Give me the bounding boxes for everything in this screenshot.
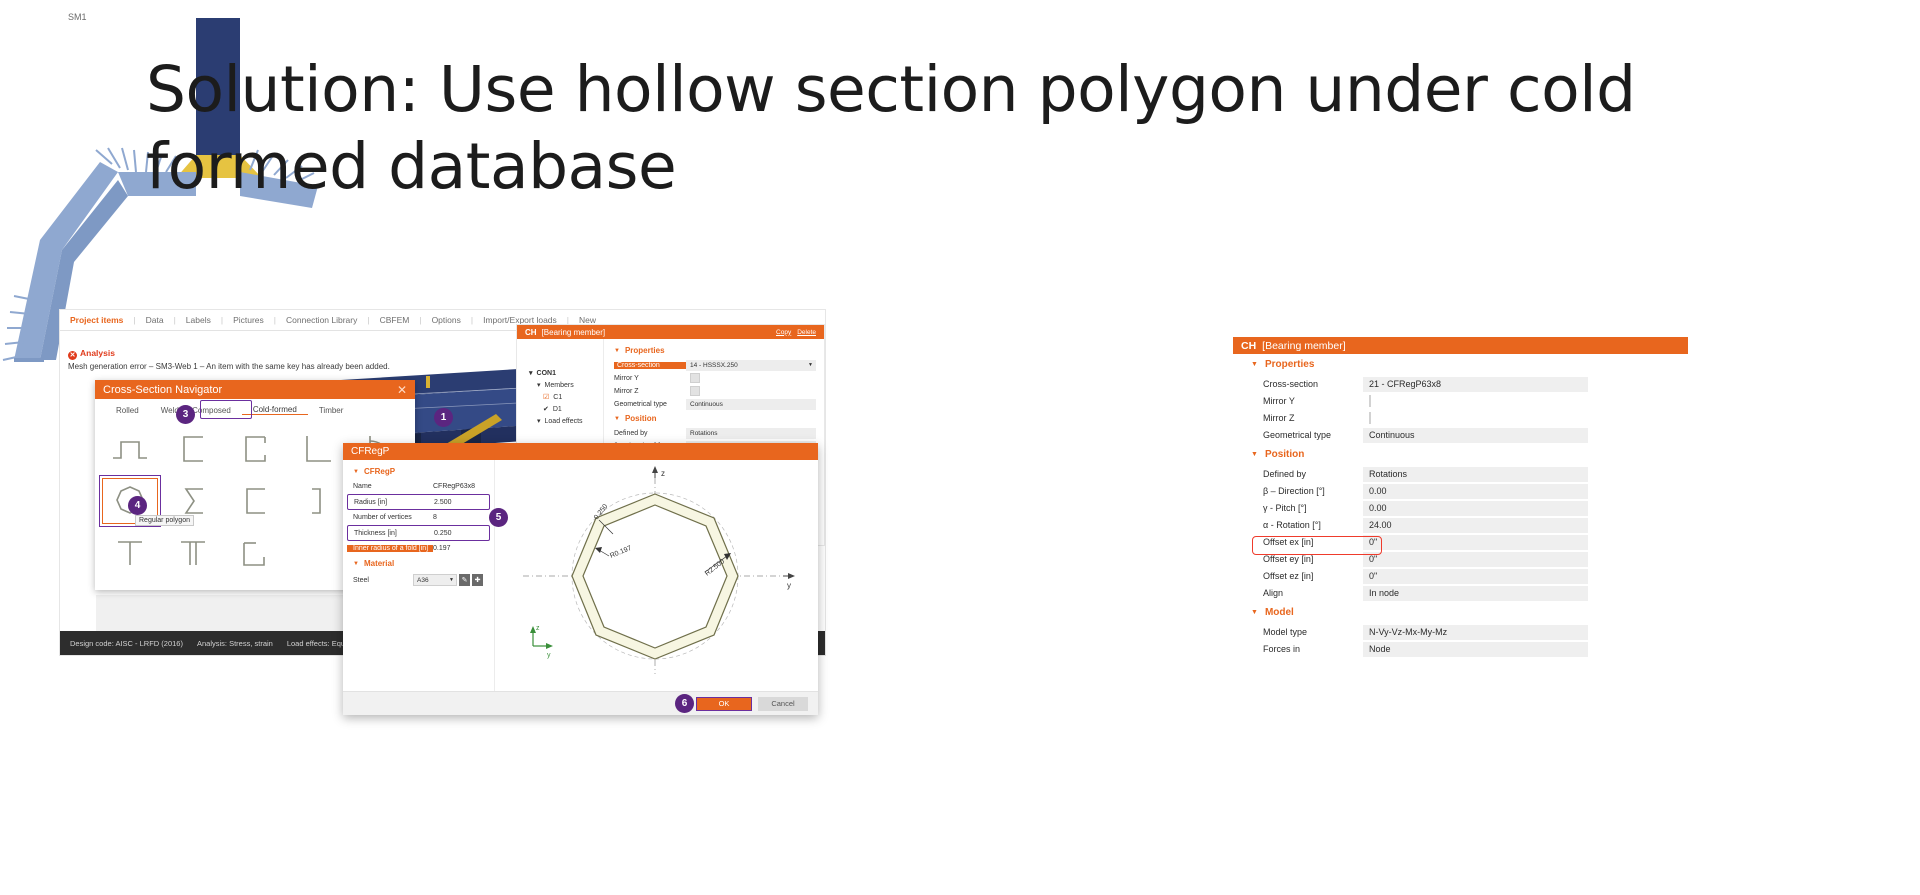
- row-value[interactable]: Continuous: [1363, 428, 1588, 443]
- shape-cell-hook[interactable]: [286, 475, 348, 527]
- shape-cell-angle[interactable]: [286, 423, 348, 475]
- sigma-section-icon: [176, 485, 210, 517]
- shape-cell-tee-flanged[interactable]: [161, 527, 223, 579]
- right-panel-tag: CH: [1241, 340, 1256, 352]
- tee-section-icon: [113, 537, 147, 569]
- row-key: Forces in: [1263, 644, 1363, 654]
- left-panel-title: [Bearing member]: [542, 328, 606, 337]
- row-geometrical-type[interactable]: Geometrical type Continuous: [614, 398, 824, 410]
- select-value: A36: [417, 577, 429, 584]
- cold-formed-tab-highlight: [200, 400, 252, 419]
- row-key: Mirror Y: [1263, 396, 1363, 406]
- row-key: Model type: [1263, 627, 1363, 637]
- caret-icon: ▾: [537, 417, 541, 425]
- row-mirror-y[interactable]: Mirror Y: [614, 372, 824, 384]
- step-badge-1: 1: [434, 408, 453, 427]
- right-section-properties[interactable]: ▼ Properties: [1233, 354, 1688, 375]
- row-cross-section[interactable]: Cross-section 14 - HSSSX.250 ▼: [614, 359, 824, 371]
- cfregp-row-vertices[interactable]: Number of vertices 8: [347, 511, 490, 524]
- section-label: Properties: [1265, 359, 1314, 370]
- row-key: Inner radius of a fold [in]: [347, 545, 433, 552]
- right-row-forces-in[interactable]: Forces in Node: [1263, 641, 1688, 657]
- lipped-channel-icon: [238, 433, 272, 465]
- angle-section-icon: [299, 433, 335, 465]
- caret-icon: ▼: [1251, 609, 1258, 616]
- row-value: [686, 386, 816, 397]
- csn-titlebar: Cross-Section Navigator ✕: [95, 380, 415, 399]
- step-badge-5: 5: [489, 508, 508, 527]
- csn-tab-timber[interactable]: Timber: [308, 406, 355, 415]
- row-value[interactable]: 0.197: [433, 545, 490, 552]
- shape-cell-empty-a: [286, 527, 348, 579]
- right-row-offset-ez[interactable]: Offset ez [in] 0": [1263, 568, 1688, 584]
- row-defined-by[interactable]: Defined by Rotations: [614, 427, 824, 439]
- page-title: Solution: Use hollow section polygon und…: [146, 52, 1786, 206]
- tree-label: Members: [545, 382, 574, 389]
- cfregp-section-header[interactable]: ▼ CFRegP: [343, 464, 494, 479]
- ribbon-tab-pictures[interactable]: Pictures: [223, 315, 274, 325]
- row-key: γ - Pitch [°]: [1263, 503, 1363, 513]
- left-section-properties[interactable]: ▼ Properties: [604, 343, 824, 358]
- row-value[interactable]: CFRegP63x8: [433, 483, 490, 490]
- hat-section-icon: [110, 434, 150, 464]
- row-value[interactable]: Rotations: [686, 428, 816, 439]
- svg-text:y: y: [787, 581, 791, 590]
- step-badge-4: 4: [128, 496, 147, 515]
- z-section-icon: [238, 537, 272, 569]
- ribbon-tab-project-items[interactable]: Project items: [60, 315, 133, 325]
- section-label: Material: [364, 559, 394, 568]
- row-key: Defined by: [1263, 469, 1363, 479]
- row-value[interactable]: 0.250: [434, 530, 489, 537]
- right-row-mirror-y[interactable]: Mirror Y: [1263, 393, 1688, 409]
- status-design-code: Design code: AISC - LRFD (2016): [70, 639, 183, 648]
- left-panel-actions[interactable]: Copy Delete: [776, 329, 816, 336]
- viewport-label: SM1: [68, 12, 87, 22]
- cfregp-row-name[interactable]: Name CFRegP63x8: [347, 480, 490, 493]
- cfregp-section-material[interactable]: ▼ Material: [343, 556, 494, 571]
- ok-button[interactable]: OK: [696, 697, 752, 711]
- left-panel-header: CH [Bearing member] Copy Delete: [517, 325, 824, 339]
- shape-cell-tee[interactable]: [99, 527, 161, 579]
- row-value[interactable]: 0": [1363, 552, 1588, 567]
- cfregp-row-steel[interactable]: Steel A36 ▼ ✎ ✚: [347, 573, 490, 587]
- shape-cell-u[interactable]: [224, 475, 286, 527]
- caret-icon: ▾: [529, 369, 533, 377]
- cfregp-dialog: CFRegP ▼ CFRegP Name CFRegP63x8 Radius […: [343, 443, 818, 715]
- alpha-rotation-highlight: [1252, 536, 1382, 555]
- caret-icon: ▼: [353, 469, 359, 475]
- mirror-y-checkbox[interactable]: [690, 373, 700, 383]
- row-key: Mirror Z: [1263, 413, 1363, 423]
- row-mirror-z[interactable]: Mirror Z: [614, 385, 824, 397]
- row-value[interactable]: N-Vy-Vz-Mx-My-Mz: [1363, 625, 1588, 640]
- cfregp-footer: OK Cancel: [343, 691, 818, 715]
- cfregp-row-radius[interactable]: Radius [in] 2.500: [347, 494, 490, 510]
- row-key: α - Rotation [°]: [1263, 520, 1363, 530]
- row-key: Steel: [347, 577, 413, 584]
- row-value[interactable]: 0": [1363, 569, 1588, 584]
- delete-button[interactable]: Delete: [797, 329, 816, 336]
- pencil-icon[interactable]: ✎: [459, 574, 470, 586]
- tree-node-d1[interactable]: ✔D1: [529, 403, 603, 415]
- tree-node-c1[interactable]: ☑C1: [529, 391, 603, 403]
- shape-cell-lipped-channel[interactable]: [224, 423, 286, 475]
- row-value[interactable]: Rotations: [1363, 467, 1588, 482]
- csn-title: Cross-Section Navigator: [103, 384, 222, 396]
- cfregp-parameter-list: ▼ CFRegP Name CFRegP63x8 Radius [in] 2.5…: [343, 460, 495, 691]
- row-value[interactable]: Node: [1363, 642, 1588, 657]
- row-value: [686, 373, 816, 384]
- caret-icon: ▼: [614, 416, 620, 422]
- right-row-geometrical-type[interactable]: Geometrical type Continuous: [1263, 427, 1688, 443]
- status-analysis: Analysis: Stress, strain: [197, 639, 273, 648]
- row-key: Mirror Z: [614, 388, 686, 395]
- tree-label: D1: [553, 406, 562, 413]
- checkbox-icon[interactable]: ✔: [543, 405, 549, 413]
- shape-cell-channel[interactable]: [161, 423, 223, 475]
- cancel-button[interactable]: Cancel: [758, 697, 808, 711]
- section-label: Properties: [625, 346, 665, 355]
- row-value: [1363, 411, 1588, 426]
- csn-tab-strip[interactable]: Rolled Welded, Composed Cold-formed Timb…: [95, 399, 415, 421]
- ribbon-tab-labels[interactable]: Labels: [176, 315, 221, 325]
- mirror-y-checkbox[interactable]: [1369, 395, 1371, 407]
- row-key: Cross-section: [1263, 379, 1363, 389]
- row-value[interactable]: 0": [1363, 535, 1588, 550]
- svg-text:y: y: [547, 652, 551, 659]
- checkbox-icon[interactable]: ☑: [543, 393, 549, 401]
- section-label: Model: [1265, 607, 1294, 618]
- steel-material-select[interactable]: A36 ▼: [413, 574, 457, 586]
- cfregp-titlebar: CFRegP: [343, 443, 818, 460]
- cfregp-body: ▼ CFRegP Name CFRegP63x8 Radius [in] 2.5…: [343, 460, 818, 691]
- section-label: Position: [1265, 449, 1304, 460]
- analysis-error-block: ✕Analysis Mesh generation error – SM3-We…: [68, 348, 390, 371]
- svg-text:z: z: [661, 469, 665, 478]
- error-icon: ✕: [68, 351, 77, 360]
- cfregp-row-thickness[interactable]: Thickness [in] 0.250: [347, 525, 490, 541]
- polygon-drawing: z y 0.250 R0.197 R2.500 z y: [495, 460, 818, 691]
- tree-label: C1: [553, 394, 562, 401]
- cfregp-section-preview[interactable]: z y 0.250 R0.197 R2.500 z y: [495, 460, 818, 691]
- step-badge-6: 6: [675, 694, 694, 713]
- right-row-align[interactable]: Align In node: [1263, 585, 1688, 601]
- copy-button[interactable]: Copy: [776, 329, 791, 336]
- section-label: Position: [625, 414, 657, 423]
- caret-icon: ▼: [1251, 451, 1258, 458]
- row-value[interactable]: In node: [1363, 586, 1588, 601]
- caret-icon: ▼: [1251, 361, 1258, 368]
- row-value[interactable]: 24.00: [1363, 518, 1588, 533]
- right-row-cross-section[interactable]: Cross-section 21 - CFRegP63x8: [1263, 376, 1688, 392]
- right-row-model-type[interactable]: Model type N-Vy-Vz-Mx-My-Mz: [1263, 624, 1688, 640]
- ribbon-tab-import-export-loads[interactable]: Import/Export loads: [473, 315, 567, 325]
- row-value[interactable]: 14 - HSSSX.250 ▼: [686, 360, 816, 371]
- project-tree[interactable]: ▾CON1 ▾Members ☑C1 ✔D1 ▾Load effects: [517, 367, 603, 427]
- tree-node-con1[interactable]: ▾CON1: [529, 367, 603, 379]
- row-value[interactable]: 2.500: [434, 499, 489, 506]
- tree-label: CON1: [537, 370, 556, 377]
- caret-icon: ▼: [614, 348, 620, 354]
- left-panel-tag: CH: [525, 328, 537, 337]
- section-label: CFRegP: [364, 467, 395, 476]
- row-key: Cross-section: [614, 362, 686, 369]
- plus-icon[interactable]: ✚: [472, 574, 483, 586]
- cfregp-title: CFRegP: [351, 446, 389, 457]
- caret-icon: ▾: [537, 381, 541, 389]
- row-value: [1363, 394, 1588, 409]
- right-row-beta-direction[interactable]: β – Direction [°] 0.00: [1263, 483, 1688, 499]
- hook-section-icon: [302, 485, 332, 517]
- csn-tab-rolled[interactable]: Rolled: [105, 406, 150, 415]
- row-key: Geometrical type: [614, 401, 686, 408]
- row-key: Offset ey [in]: [1263, 554, 1363, 564]
- right-section-model[interactable]: ▼ Model: [1233, 602, 1688, 623]
- right-row-gamma-pitch[interactable]: γ - Pitch [°] 0.00: [1263, 500, 1688, 516]
- right-panel-title: [Bearing member]: [1262, 340, 1345, 352]
- tee-flanged-icon: [176, 537, 210, 569]
- caret-icon: ▼: [353, 561, 359, 567]
- row-key: Thickness [in]: [348, 530, 434, 537]
- ribbon-tab-data[interactable]: Data: [136, 315, 174, 325]
- row-value[interactable]: 0.00: [1363, 484, 1588, 499]
- chevron-down-icon[interactable]: ▼: [449, 577, 456, 583]
- row-value[interactable]: 21 - CFRegP63x8: [1363, 377, 1588, 392]
- row-key: Radius [in]: [348, 499, 434, 506]
- row-value[interactable]: Continuous: [686, 399, 816, 410]
- ribbon-tab-new[interactable]: New: [569, 315, 606, 325]
- right-row-mirror-z[interactable]: Mirror Z: [1263, 410, 1688, 426]
- row-value[interactable]: 8: [433, 514, 490, 521]
- left-section-position[interactable]: ▼ Position: [604, 411, 824, 426]
- chevron-down-icon[interactable]: ▼: [808, 360, 816, 371]
- value-text: 14 - HSSSX.250: [690, 360, 738, 371]
- error-title: Analysis: [80, 348, 115, 358]
- ribbon-tab-cbfem[interactable]: CBFEM: [370, 315, 420, 325]
- close-icon[interactable]: ✕: [397, 383, 407, 397]
- row-key: β – Direction [°]: [1263, 486, 1363, 496]
- right-row-alpha-rotation[interactable]: α - Rotation [°] 24.00: [1263, 517, 1688, 533]
- mirror-z-checkbox[interactable]: [1369, 412, 1371, 424]
- cfregp-row-inner-radius[interactable]: Inner radius of a fold [in] 0.197: [347, 542, 490, 555]
- tree-node-load-effects[interactable]: ▾Load effects: [529, 415, 603, 427]
- step-badge-3: 3: [176, 405, 195, 424]
- error-title-row: ✕Analysis: [68, 348, 390, 360]
- error-message: Mesh generation error – SM3-Web 1 – An i…: [68, 362, 390, 371]
- right-panel-header: CH [Bearing member]: [1233, 337, 1688, 354]
- shape-cell-z[interactable]: [224, 527, 286, 579]
- right-section-position[interactable]: ▼ Position: [1233, 444, 1688, 465]
- row-key: Align: [1263, 588, 1363, 598]
- shape-cell-hat[interactable]: [99, 423, 161, 475]
- svg-text:z: z: [536, 625, 540, 632]
- tree-node-members[interactable]: ▾Members: [529, 379, 603, 391]
- row-key: Number of vertices: [347, 514, 433, 521]
- tree-label: Load effects: [545, 418, 583, 425]
- ribbon-tab-options[interactable]: Options: [422, 315, 471, 325]
- u-section-icon: [238, 485, 272, 517]
- row-key: Offset ez [in]: [1263, 571, 1363, 581]
- ribbon-tab-connection-library[interactable]: Connection Library: [276, 315, 367, 325]
- right-row-defined-by[interactable]: Defined by Rotations: [1263, 466, 1688, 482]
- row-key: Mirror Y: [614, 375, 686, 382]
- row-key: Defined by: [614, 430, 686, 437]
- row-key: Geometrical type: [1263, 430, 1363, 440]
- mirror-z-checkbox[interactable]: [690, 386, 700, 396]
- channel-section-icon: [176, 433, 210, 465]
- row-value[interactable]: 0.00: [1363, 501, 1588, 516]
- row-key: Name: [347, 483, 433, 490]
- right-properties-panel: CH [Bearing member] ▼ Properties Cross-s…: [1233, 337, 1688, 687]
- regular-polygon-tooltip: Regular polygon: [135, 515, 194, 526]
